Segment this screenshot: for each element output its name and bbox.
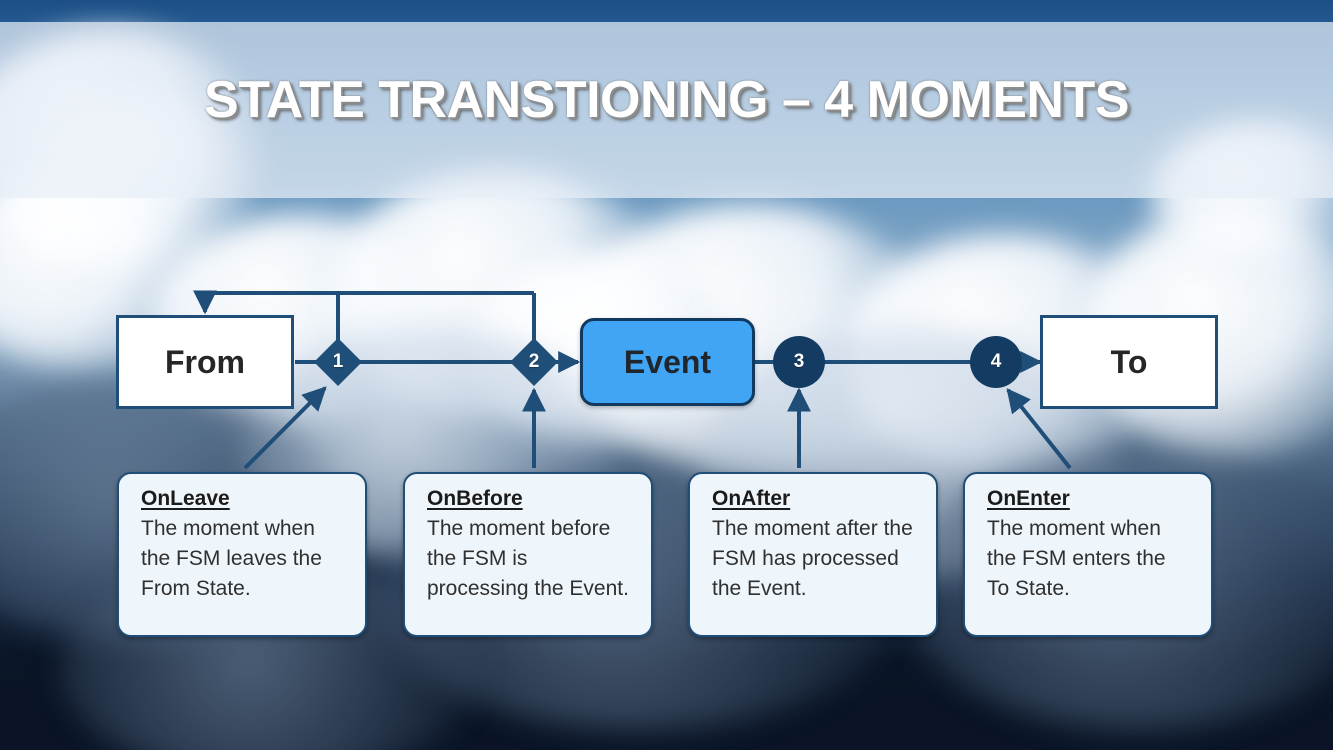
callout-onafter-body: The moment after the FSM has processed t… [712,514,918,603]
callout-onenter-body: The moment when the FSM enters the To St… [987,514,1193,603]
node-to-label: To [1111,344,1148,381]
node-to-state[interactable]: To [1040,315,1218,409]
callout-onleave-title: OnLeave [141,486,347,512]
slide-canvas: STATE TRANSTIONING – 4 MOMENTS [0,0,1333,750]
node-event-label: Event [624,344,711,381]
callout-onafter-title: OnAfter [712,486,918,512]
callout-onbefore-body: The moment before the FSM is processing … [427,514,633,603]
marker-1-label-wrap: 1 [314,348,362,376]
callout-onbefore-title: OnBefore [427,486,633,512]
callout-onenter-title: OnEnter [987,486,1193,512]
marker-2-label: 2 [529,351,540,373]
callout-onenter[interactable]: OnEnter The moment when the FSM enters t… [963,472,1213,637]
marker-3-label: 3 [794,351,805,373]
node-from-label: From [165,344,245,381]
callout-onbefore[interactable]: OnBefore The moment before the FSM is pr… [403,472,653,637]
node-from-state[interactable]: From [116,315,294,409]
callout-onleave[interactable]: OnLeave The moment when the FSM leaves t… [117,472,367,637]
edge-feedback-rail [205,293,534,312]
marker-3-label-wrap: 3 [775,348,823,376]
callout-onafter[interactable]: OnAfter The moment after the FSM has pro… [688,472,938,637]
marker-4-label-wrap: 4 [972,348,1020,376]
callout-onleave-body: The moment when the FSM leaves the From … [141,514,347,603]
node-event[interactable]: Event [580,318,755,406]
marker-1-label: 1 [333,351,344,373]
marker-2-label-wrap: 2 [510,348,558,376]
marker-4-label: 4 [991,351,1002,373]
